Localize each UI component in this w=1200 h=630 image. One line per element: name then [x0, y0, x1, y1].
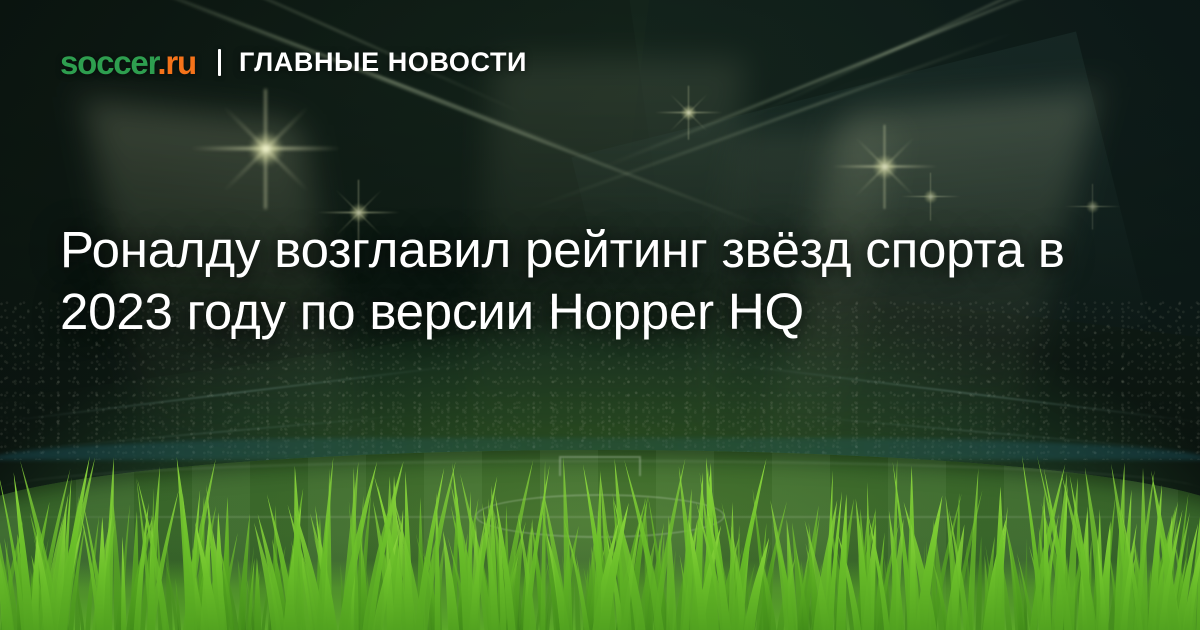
card-header: soccer.ru ГЛАВНЫЕ НОВОСТИ	[60, 46, 527, 79]
share-card: soccer.ru ГЛАВНЫЕ НОВОСТИ Роналду возгла…	[0, 0, 1200, 630]
section-title: ГЛАВНЫЕ НОВОСТИ	[239, 49, 527, 76]
header-divider	[218, 49, 221, 76]
grass-blades-icon	[0, 440, 1200, 630]
page-title: Роналду возглавил рейтинг звёзд спорта в…	[60, 219, 1130, 343]
foreground-grass	[0, 440, 1200, 630]
logo-suffix-text: .ru	[157, 44, 196, 81]
logo-primary-text: soccer	[60, 44, 157, 81]
site-logo[interactable]: soccer.ru	[60, 46, 196, 79]
